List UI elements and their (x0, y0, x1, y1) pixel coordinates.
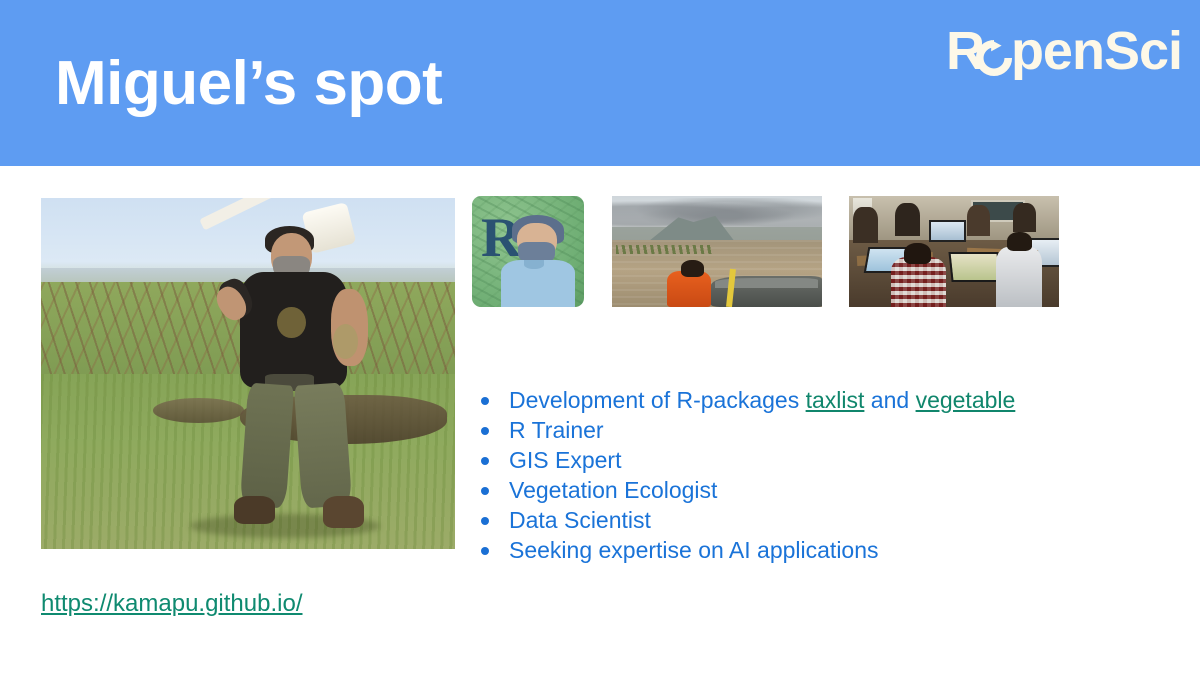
photo-figure-right-boot (323, 496, 364, 528)
bullet-list: Development of R-packages taxlist and ve… (478, 385, 1118, 565)
photo-figure-left-boot (234, 496, 275, 524)
personal-website-link[interactable]: https://kamapu.github.io/ (41, 590, 303, 618)
lab-student-foreground-right (996, 247, 1042, 307)
list-item-text: R Trainer (509, 417, 604, 443)
lab-student-foreground-plaid (891, 257, 946, 307)
photo-figure-left-leg (240, 383, 294, 509)
circular-arrow-icon (975, 39, 1013, 77)
lab-student-back-4 (1013, 203, 1036, 232)
thumbnail-computer-lab-training (849, 196, 1059, 307)
thumbnail-avatar-illustration: R (472, 196, 584, 307)
thumbnail-river-fieldwork (612, 196, 822, 307)
list-item-text: Data Scientist (509, 507, 651, 533)
portrait-photo (41, 198, 455, 549)
package-link-taxlist[interactable]: taxlist (806, 387, 865, 413)
lab-student-back-3 (967, 205, 990, 236)
list-item: Development of R-packages taxlist and ve… (478, 385, 1118, 415)
photo-figure-right-leg (293, 382, 351, 508)
list-item: Data Scientist (478, 505, 1118, 535)
package-link-vegetable[interactable]: vegetable (916, 387, 1016, 413)
river-vegetation (616, 245, 713, 254)
list-item-text: GIS Expert (509, 447, 621, 473)
lab-student-foreground-plaid-head (904, 243, 931, 264)
list-item-text: Development of R-packages (509, 387, 806, 413)
ropensci-logo: R penSci (946, 22, 1182, 80)
photo-figure-right-arm-gap (333, 324, 358, 359)
list-item-text: Vegetation Ecologist (509, 477, 717, 503)
list-item: Seeking expertise on AI applications (478, 535, 1118, 565)
lab-student-foreground-right-head (1007, 232, 1032, 252)
lab-student-back-2 (895, 203, 920, 236)
lab-student-back-1 (853, 207, 878, 243)
lab-laptop-3 (929, 220, 967, 242)
list-item: R Trainer (478, 415, 1118, 445)
list-item-text: Seeking expertise on AI applications (509, 537, 879, 563)
photo-water-pool-small (153, 398, 244, 423)
logo-text-opensci: penSci (1011, 24, 1182, 78)
list-item: GIS Expert (478, 445, 1118, 475)
page-title: Miguel’s spot (55, 50, 442, 118)
lab-laptop-2 (948, 252, 1001, 282)
list-item-text: and (864, 387, 915, 413)
river-person-head (681, 260, 704, 277)
list-item: Vegetation Ecologist (478, 475, 1118, 505)
photo-figure-shirt-logo (277, 307, 306, 339)
